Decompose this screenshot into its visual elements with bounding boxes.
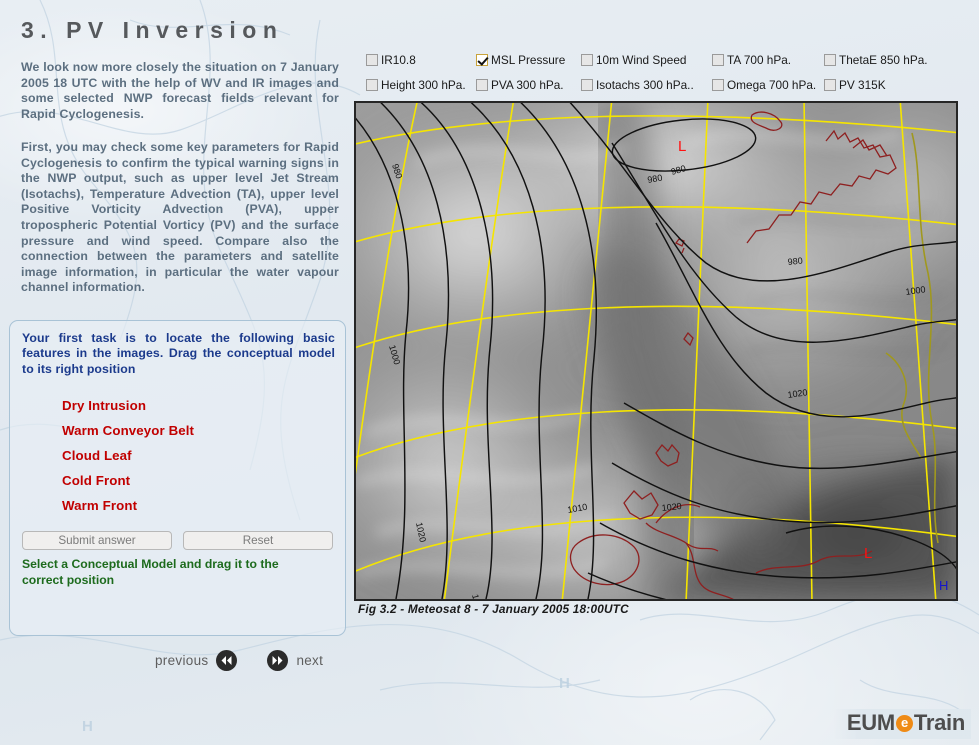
low-centre-label: L: [864, 545, 872, 562]
checkbox-icon[interactable]: [366, 79, 378, 91]
logo-text-part1: EUM: [847, 710, 895, 736]
layer-checkbox-ta-700[interactable]: TA 700 hPa.: [712, 53, 824, 67]
layer-checkbox-pv-315k[interactable]: PV 315K: [824, 78, 886, 92]
svg-text:1020: 1020: [661, 501, 682, 513]
conceptual-model-item[interactable]: Warm Conveyor Belt: [62, 418, 194, 443]
status-message: Select a Conceptual Model and drag it to…: [22, 557, 292, 588]
conceptual-model-item[interactable]: Cloud Leaf: [62, 443, 132, 468]
layer-label: Isotachs 300 hPa..: [596, 78, 694, 92]
checkbox-checked-icon[interactable]: [476, 54, 488, 66]
task-prompt: Your first task is to locate the followi…: [22, 331, 335, 377]
logo-accent-e: e: [896, 715, 913, 732]
satellite-image-canvas: 980 980 980 1000 980 1000 1010 1020 1020…: [356, 103, 956, 599]
low-centre-label: L: [678, 138, 686, 155]
previous-button[interactable]: [216, 650, 237, 671]
checkbox-icon[interactable]: [712, 79, 724, 91]
navigation-bar: previous next: [155, 650, 323, 671]
layer-row-1: IR10.8 MSL Pressure 10m Wind Speed TA 70…: [366, 53, 976, 78]
layer-label: Height 300 hPa.: [381, 78, 466, 92]
reset-button[interactable]: Reset: [183, 531, 333, 550]
conceptual-model-item[interactable]: Warm Front: [62, 493, 137, 518]
checkbox-icon[interactable]: [824, 79, 836, 91]
layer-label: TA 700 hPa.: [727, 53, 791, 67]
intro-paragraph-2: First, you may check some key parameters…: [21, 140, 339, 296]
layer-checkbox-omega-700[interactable]: Omega 700 hPa.: [712, 78, 824, 92]
conceptual-model-item[interactable]: Cold Front: [62, 468, 130, 493]
checkbox-icon[interactable]: [366, 54, 378, 66]
layer-checkbox-pva-300[interactable]: PVA 300 hPa.: [476, 78, 581, 92]
checkbox-icon[interactable]: [581, 79, 593, 91]
double-chevron-left-icon: [220, 655, 233, 666]
checkbox-icon[interactable]: [476, 79, 488, 91]
layer-row-2: Height 300 hPa. PVA 300 hPa. Isotachs 30…: [366, 78, 976, 103]
figure-caption: Fig 3.2 - Meteosat 8 - 7 January 2005 18…: [358, 602, 629, 616]
layer-label: ThetaE 850 hPa.: [839, 53, 928, 67]
layer-checkbox-ir108[interactable]: IR10.8: [366, 53, 476, 67]
checkbox-icon[interactable]: [581, 54, 593, 66]
page-title: 3. PV Inversion: [21, 17, 283, 44]
intro-paragraph-1: We look now more closely the situation o…: [21, 60, 339, 122]
eumetrain-logo: EUM e Train: [833, 709, 971, 739]
layer-checkbox-10m-wind-speed[interactable]: 10m Wind Speed: [581, 53, 712, 67]
layer-label: MSL Pressure: [491, 53, 565, 67]
layer-checkbox-area: IR10.8 MSL Pressure 10m Wind Speed TA 70…: [366, 53, 976, 103]
layer-checkbox-height-300[interactable]: Height 300 hPa.: [366, 78, 476, 92]
layer-label: 10m Wind Speed: [596, 53, 687, 67]
next-button[interactable]: [267, 650, 288, 671]
logo-text-part3: Train: [914, 710, 965, 736]
svg-text:H: H: [82, 718, 93, 735]
previous-label: previous: [155, 653, 208, 668]
layer-label: PVA 300 hPa.: [491, 78, 564, 92]
checkbox-icon[interactable]: [824, 54, 836, 66]
double-chevron-right-icon: [271, 655, 284, 666]
high-centre-label: H: [939, 578, 948, 593]
layer-checkbox-thetae-850[interactable]: ThetaE 850 hPa.: [824, 53, 928, 67]
submit-answer-button[interactable]: Submit answer: [22, 531, 172, 550]
conceptual-model-item[interactable]: Dry Intrusion: [62, 393, 146, 418]
layer-checkbox-msl-pressure[interactable]: MSL Pressure: [476, 53, 581, 67]
task-panel: Your first task is to locate the followi…: [9, 320, 346, 636]
layer-label: IR10.8: [381, 53, 416, 67]
task-button-row: Submit answer Reset: [22, 531, 335, 550]
layer-label: PV 315K: [839, 78, 886, 92]
checkbox-icon[interactable]: [712, 54, 724, 66]
next-label: next: [296, 653, 323, 668]
svg-text:H: H: [559, 675, 570, 692]
svg-text:980: 980: [787, 255, 803, 267]
satellite-image[interactable]: 980 980 980 1000 980 1000 1010 1020 1020…: [354, 101, 958, 601]
layer-checkbox-isotachs-300[interactable]: Isotachs 300 hPa..: [581, 78, 712, 92]
conceptual-model-list: Dry Intrusion Warm Conveyor Belt Cloud L…: [62, 393, 332, 518]
layer-label: Omega 700 hPa.: [727, 78, 816, 92]
